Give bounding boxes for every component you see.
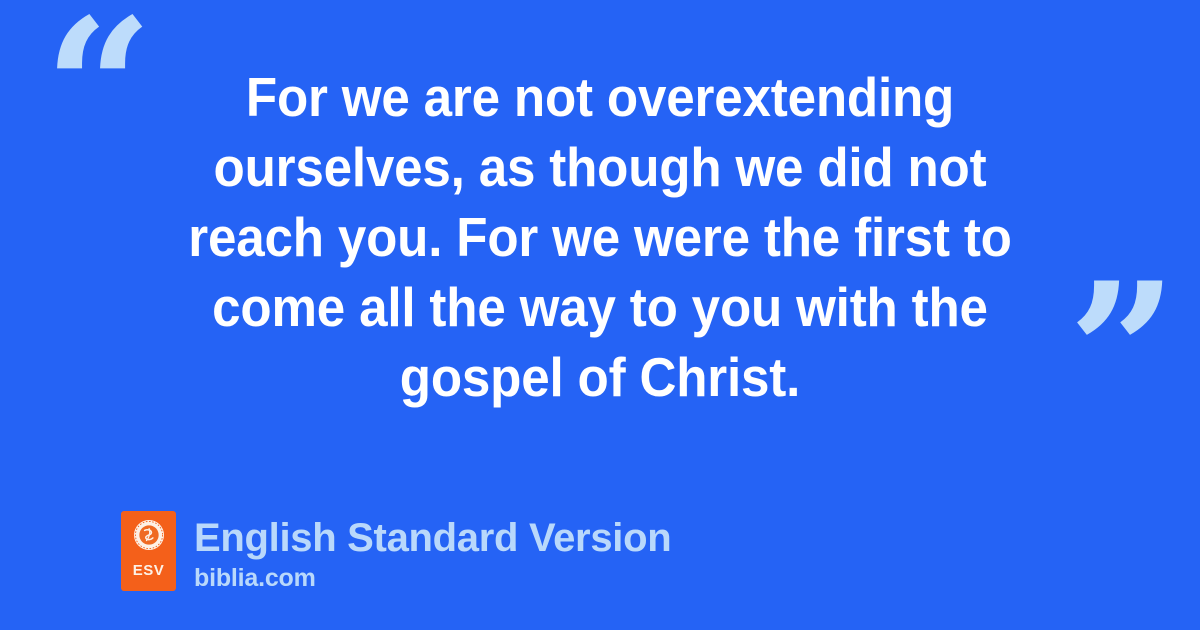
quote-text: For we are not overextending ourselves, … [172,62,1028,412]
bible-version-name: English Standard Version [194,515,671,561]
close-quote-icon: ” [1068,258,1177,448]
circular-seal-monogram-icon [133,519,165,556]
quote-line: ourselves, as though we did not [172,132,1028,202]
footer-text-group: English Standard Version biblia.com [194,511,671,593]
esv-version-badge: ESV [121,511,176,591]
quote-line: come all the way to you with the [172,272,1028,342]
quote-line: For we are not overextending [172,62,1028,132]
attribution-footer: ESV English Standard Version biblia.com [121,511,671,593]
quote-line: reach you. For we were the first to [172,202,1028,272]
version-abbreviation: ESV [133,563,165,578]
quote-line: gospel of Christ. [172,342,1028,412]
open-quote-icon: “ [44,0,153,184]
quote-card: “ For we are not overextending ourselves… [0,0,1200,630]
site-url: biblia.com [194,563,671,593]
